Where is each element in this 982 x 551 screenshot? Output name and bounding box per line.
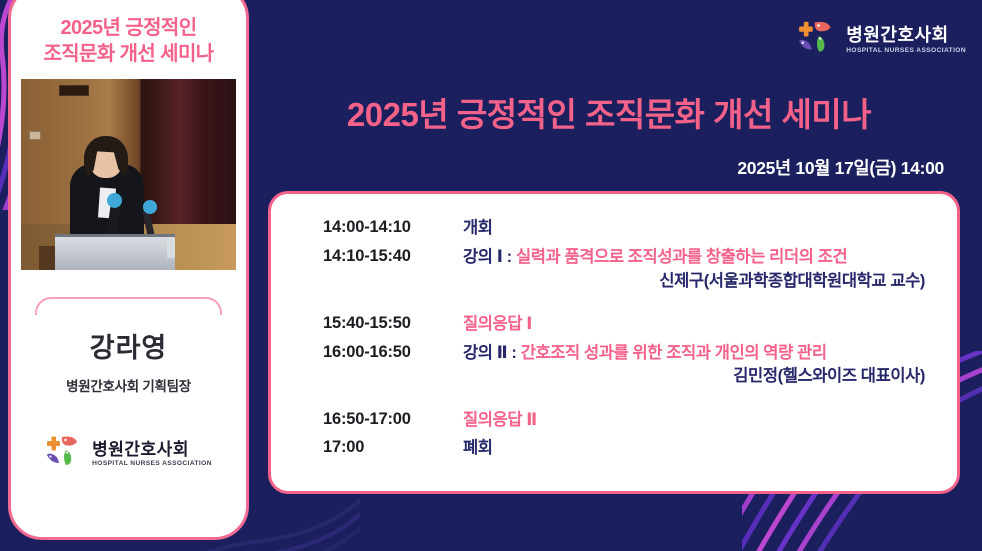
main-content: 병원간호사회 HOSPITAL NURSES ASSOCIATION 2025년… <box>258 0 982 551</box>
schedule-row-speaker: 신제구(서울과학종합대학원대학교 교수) <box>463 270 939 292</box>
hna-emblem-icon <box>45 435 85 467</box>
sidebar-hna-logo: 병원간호사회 HOSPITAL NURSES ASSOCIATION <box>45 435 212 467</box>
sidebar-title: 2025년 긍정적인 조직문화 개선 세미나 <box>11 15 246 68</box>
schedule-row-body: 개회 <box>463 216 939 241</box>
schedule-row-body: 폐회 <box>463 436 939 461</box>
header-logo-text: 병원간호사회 HOSPITAL NURSES ASSOCIATION <box>846 21 966 54</box>
hna-emblem-icon <box>797 20 839 54</box>
schedule-row-time: 14:00-14:10 <box>323 216 463 237</box>
schedule-row: 17:00폐회 <box>323 436 939 461</box>
speaker-video-thumbnail[interactable] <box>21 79 236 270</box>
schedule-row-title: 강의 Ⅱ : 간호조직 성과를 위한 조직과 개인의 역량 관리 <box>463 341 939 366</box>
schedule-panel: 14:00-14:10개회14:10-15:40강의 Ⅰ : 실력과 품격으로 … <box>268 191 960 494</box>
speaker-role: 병원간호사회 기획팀장 <box>66 375 191 395</box>
sidebar-title-line1: 2025년 긍정적인 <box>19 15 238 41</box>
header-hna-logo: 병원간호사회 HOSPITAL NURSES ASSOCIATION <box>797 20 966 54</box>
schedule-row-title: 강의 Ⅰ : 실력과 품격으로 조직성과를 창출하는 리더의 조건 <box>463 245 939 270</box>
speaker-name: 강라영 <box>90 326 168 365</box>
schedule-row-time: 14:10-15:40 <box>323 245 463 266</box>
schedule-row-title: 개회 <box>463 216 939 241</box>
event-datetime: 2025년 10월 17일(금) 14:00 <box>737 155 944 180</box>
schedule-row-body: 강의 Ⅱ : 간호조직 성과를 위한 조직과 개인의 역량 관리김민정(헬스와이… <box>463 341 939 388</box>
schedule-row-title: 질의응답 Ⅱ <box>463 408 939 433</box>
video-podium <box>55 234 175 270</box>
schedule-row-time: 16:00-16:50 <box>323 341 463 362</box>
header-logo-text-en: HOSPITAL NURSES ASSOCIATION <box>846 47 966 54</box>
sidebar-logo-text-en: HOSPITAL NURSES ASSOCIATION <box>92 460 212 467</box>
schedule-row-body: 질의응답 Ⅱ <box>463 408 939 433</box>
schedule-row-speaker: 김민정(헬스와이즈 대표이사) <box>463 365 939 387</box>
video-wall-switch <box>29 131 41 140</box>
video-water-bottle <box>167 238 175 258</box>
schedule-row: 14:10-15:40강의 Ⅰ : 실력과 품격으로 조직성과를 창출하는 리더… <box>323 245 939 292</box>
schedule-row-title: 질의응답 Ⅰ <box>463 312 939 337</box>
video-stand-mic-head <box>143 200 157 214</box>
schedule-row-time: 17:00 <box>323 436 463 457</box>
schedule-row-title-text: 실력과 품격으로 조직성과를 창출하는 리더의 조건 <box>516 248 847 266</box>
sidebar-logo-text: 병원간호사회 HOSPITAL NURSES ASSOCIATION <box>92 435 212 467</box>
video-wall-vent <box>59 85 89 96</box>
header-logo-text-ko: 병원간호사회 <box>846 21 966 47</box>
sidebar-logo-text-ko: 병원간호사회 <box>92 435 212 460</box>
video-handheld-mic-head <box>107 193 122 208</box>
schedule-row: 15:40-15:50질의응답 Ⅰ <box>323 312 939 337</box>
schedule-row-body: 질의응답 Ⅰ <box>463 312 939 337</box>
sidebar-title-line2: 조직문화 개선 세미나 <box>19 41 238 67</box>
schedule-row: 16:50-17:00질의응답 Ⅱ <box>323 408 939 433</box>
sidebar-divider-arc <box>35 297 222 315</box>
schedule-row-title-text: 간호조직 성과를 위한 조직과 개인의 역량 관리 <box>521 344 827 362</box>
sidebar-card: 2025년 긍정적인 조직문화 개선 세미나 강라영 병원간호사회 기획팀장 <box>8 0 249 540</box>
page-title: 2025년 긍정적인 조직문화 개선 세미나 <box>258 88 960 136</box>
schedule-row-title-prefix: 강의 Ⅱ : <box>463 344 521 362</box>
schedule-row-title-prefix: 강의 Ⅰ : <box>463 248 516 266</box>
schedule-row-time: 16:50-17:00 <box>323 408 463 429</box>
schedule-row: 16:00-16:50강의 Ⅱ : 간호조직 성과를 위한 조직과 개인의 역량… <box>323 341 939 388</box>
schedule-row-time: 15:40-15:50 <box>323 312 463 333</box>
schedule-row-body: 강의 Ⅰ : 실력과 품격으로 조직성과를 창출하는 리더의 조건신제구(서울과… <box>463 245 939 292</box>
schedule-rows: 14:00-14:10개회14:10-15:40강의 Ⅰ : 실력과 품격으로 … <box>323 216 939 461</box>
schedule-row: 14:00-14:10개회 <box>323 216 939 241</box>
schedule-row-title: 폐회 <box>463 436 939 461</box>
